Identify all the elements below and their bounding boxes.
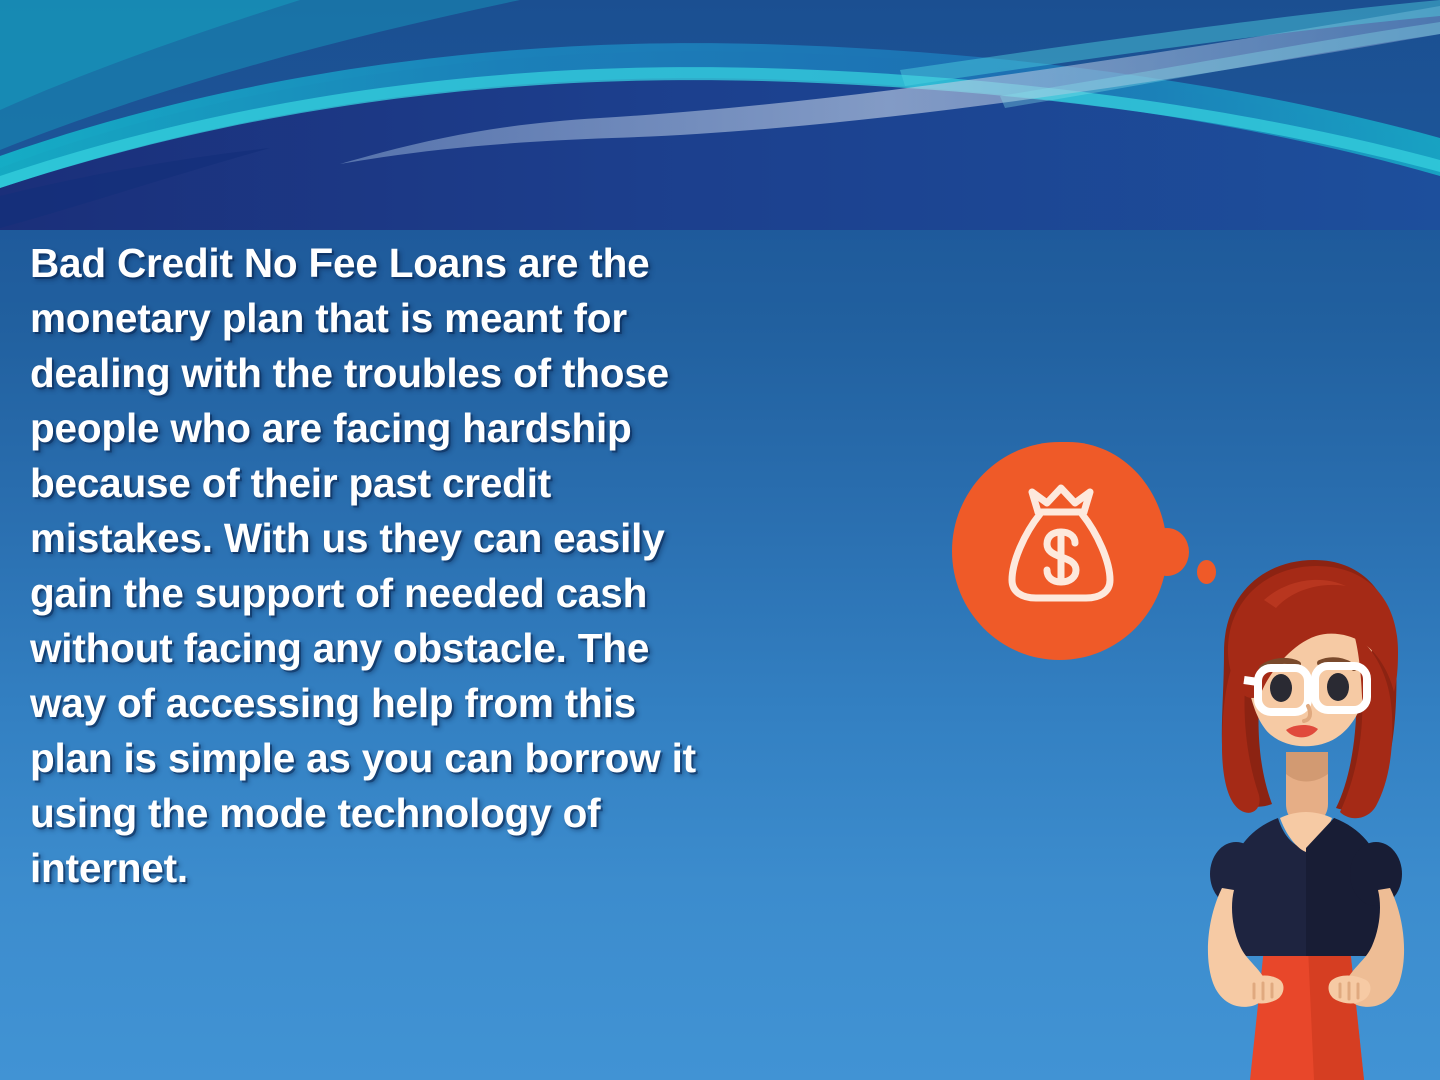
money-bag-icon (1002, 478, 1120, 610)
copy-line: gain the support of needed cash (30, 566, 860, 621)
copy-line: dealing with the troubles of those (30, 346, 860, 401)
woman-with-glasses-illustration (1168, 556, 1440, 1080)
copy-line: plan is simple as you can borrow it (30, 731, 860, 786)
copy-line: because of their past credit (30, 456, 860, 511)
copy-line: mistakes. With us they can easily (30, 511, 860, 566)
copy-line: monetary plan that is meant for (30, 291, 860, 346)
wave-decoration (0, 0, 1440, 230)
copy-line: Bad Credit No Fee Loans are the (30, 236, 860, 291)
copy-line: internet. (30, 841, 860, 896)
body-copy: Bad Credit No Fee Loans are the monetary… (30, 236, 860, 896)
copy-line: way of accessing help from this (30, 676, 860, 731)
copy-line: people who are facing hardship (30, 401, 860, 456)
slide-canvas: Bad Credit No Fee Loans are the monetary… (0, 0, 1440, 1080)
copy-line: using the mode technology of (30, 786, 860, 841)
copy-line: without facing any obstacle. The (30, 621, 860, 676)
